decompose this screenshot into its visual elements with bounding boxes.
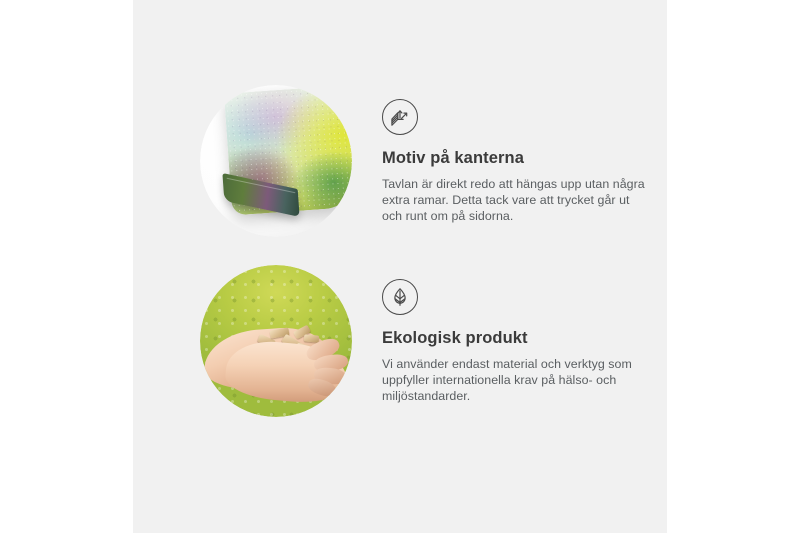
content-panel: Motiv på kanterna Tavlan är direkt redo … bbox=[133, 0, 667, 533]
feature-description: Tavlan är direkt redo att hängas upp uta… bbox=[382, 176, 650, 225]
canvas-image-clip bbox=[200, 85, 352, 237]
feature-title: Ekologisk produkt bbox=[382, 329, 650, 349]
feature-row-ekologisk-produkt: Ekologisk produkt Vi använder endast mat… bbox=[133, 265, 667, 430]
feature-row-motiv-pa-kanterna: Motiv på kanterna Tavlan är direkt redo … bbox=[133, 85, 667, 250]
feature-text-block-2: Ekologisk produkt Vi använder endast mat… bbox=[382, 279, 650, 404]
product-feature-graphic: Motiv på kanterna Tavlan är direkt redo … bbox=[0, 0, 800, 533]
canvas-corner-photo bbox=[200, 85, 352, 237]
feature-text-block-1: Motiv på kanterna Tavlan är direkt redo … bbox=[382, 99, 650, 224]
canvas-wrapped-edges-icon bbox=[382, 99, 418, 135]
feature-description: Vi använder endast material och verktyg … bbox=[382, 356, 650, 405]
leaf-icon bbox=[382, 279, 418, 315]
grass-background bbox=[200, 265, 352, 417]
hands-wood-chips-photo bbox=[200, 265, 352, 417]
feature-title: Motiv på kanterna bbox=[382, 149, 650, 169]
